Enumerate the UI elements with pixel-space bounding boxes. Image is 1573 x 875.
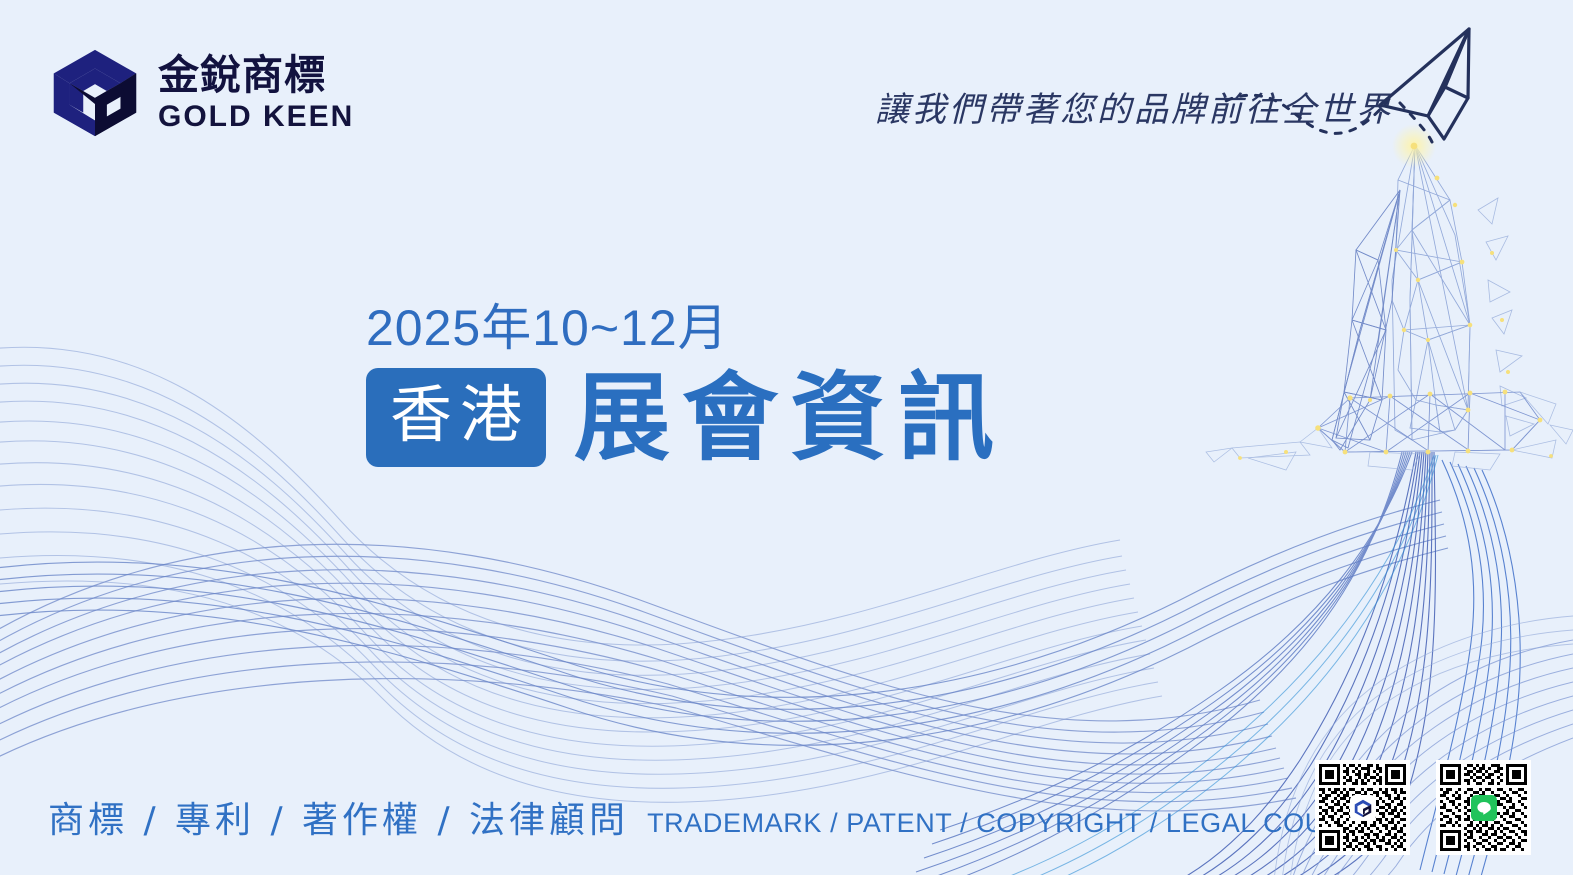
title-row: 香港 展會資訊 — [366, 368, 1006, 469]
line-qr-code[interactable] — [1436, 760, 1531, 855]
services-label-cn: 商標 / 專利 / 著作權 / 法律顧問 — [48, 791, 629, 843]
event-date-range: 2025年10~12月 — [366, 300, 1006, 358]
brand-qr-code[interactable] — [1315, 760, 1410, 855]
brand-name-cn: 金銳商標 — [158, 55, 354, 96]
qr-code-group — [1315, 760, 1531, 855]
headline-block: 2025年10~12月 香港 展會資訊 — [366, 300, 1006, 468]
region-badge: 香港 — [366, 368, 546, 467]
footer-services: 商標 / 專利 / 著作權 / 法律顧問 TRADEMARK / PATENT … — [48, 791, 1398, 843]
poster-canvas: 金銳商標 GOLD KEEN 讓我們帶著您的品牌前往全世界 2025年10~12… — [0, 0, 1573, 875]
brand-name-en: GOLD KEEN — [158, 102, 354, 132]
services-label-en: TRADEMARK / PATENT / COPYRIGHT / LEGAL C… — [647, 808, 1398, 839]
line-app-icon — [1471, 795, 1497, 821]
hexagon-cube-g-logo-icon — [46, 44, 144, 142]
brand-logo: 金銳商標 GOLD KEEN — [46, 44, 354, 142]
brand-wordmark: 金銳商標 GOLD KEEN — [158, 55, 354, 132]
tagline-text: 讓我們帶著您的品牌前往全世界 — [875, 82, 1393, 131]
gold-keen-logo-icon — [1350, 795, 1376, 821]
page-title: 展會資訊 — [574, 368, 1006, 469]
